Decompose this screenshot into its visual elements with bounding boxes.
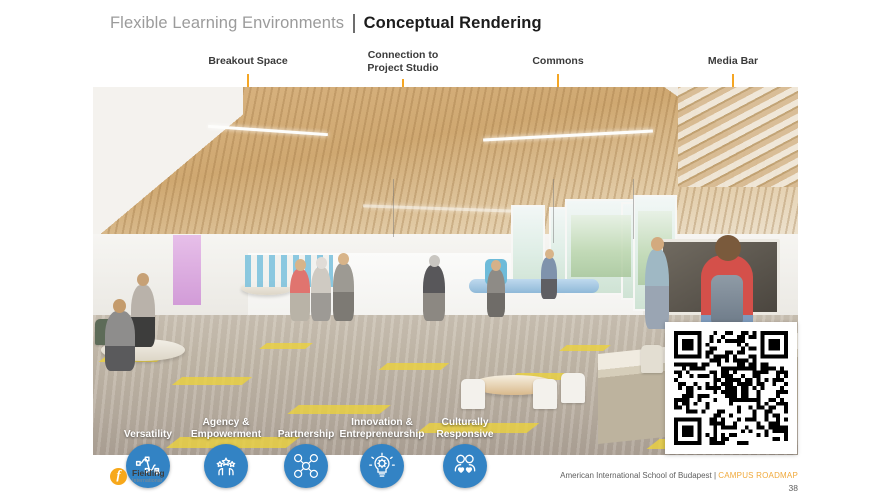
chair-commons-3	[561, 373, 585, 403]
floor-stripe-2	[172, 377, 252, 385]
lightbulb-gear-icon	[360, 444, 404, 488]
student-2-head	[113, 299, 126, 313]
footer-school-name: American International School of Budapes…	[560, 471, 718, 480]
callout-label-0: Breakout Space	[208, 55, 287, 68]
student-3-head	[295, 259, 306, 271]
student-9-head	[545, 249, 554, 259]
footer-credit: American International School of Budapes…	[560, 470, 798, 494]
page-title-secondary: Conceptual Rendering	[364, 14, 542, 33]
footer-project-name: CAMPUS ROADMAP	[718, 471, 798, 480]
student-8	[487, 269, 505, 317]
floor-stripe-3	[259, 343, 313, 349]
hands-stars-icon	[204, 444, 248, 488]
floor-stripe-5	[379, 363, 450, 370]
backpack	[711, 275, 743, 327]
pendant-cord-1	[393, 179, 394, 237]
accent-wall-purple	[173, 235, 201, 305]
chair-media-1	[641, 345, 663, 373]
callout-label-2: Commons	[532, 55, 583, 68]
ceiling-slat-fins	[678, 87, 798, 187]
student-2	[105, 311, 135, 371]
principle-3[interactable]: Innovation & Entrepreneurship	[334, 411, 430, 488]
page-title-primary: Flexible Learning Environments	[110, 14, 344, 33]
student-foreground-head	[715, 235, 741, 261]
student-5-head	[338, 253, 349, 265]
chair-commons-2	[533, 379, 557, 409]
student-7	[423, 265, 445, 321]
fielding-logo: f Fielding International	[110, 468, 165, 485]
people-network-icon	[284, 444, 328, 488]
pendant-cord-2	[553, 179, 554, 243]
fielding-logo-mark: f	[110, 468, 127, 485]
people-hearts-icon	[443, 444, 487, 488]
student-8-head	[491, 260, 501, 271]
principle-label-3: Innovation & Entrepreneurship	[334, 417, 430, 441]
student-4-head	[316, 257, 327, 269]
callout-label-3: Media Bar	[708, 55, 758, 68]
title-divider	[353, 14, 355, 33]
ceiling-left-soffit	[93, 87, 243, 256]
student-1-head	[137, 273, 149, 286]
principle-label-4: Culturally Responsive	[417, 417, 513, 441]
page-number: 38	[560, 482, 798, 494]
fielding-logo-subtitle: International	[132, 479, 165, 484]
pendant-cord-3	[633, 179, 634, 239]
page-title: Flexible Learning Environments Conceptua…	[110, 14, 542, 33]
student-4	[311, 267, 331, 321]
window-foliage	[571, 215, 631, 277]
student-9	[541, 257, 557, 299]
student-standing-teal-head	[651, 237, 664, 251]
principle-4[interactable]: Culturally Responsive	[417, 411, 513, 488]
student-7-head	[429, 255, 440, 267]
fielding-logo-name: Fielding	[132, 469, 165, 478]
callout-label-1: Connection to Project Studio	[367, 49, 438, 75]
slide: Flexible Learning Environments Conceptua…	[0, 0, 890, 500]
fielding-logo-letter: f	[110, 467, 127, 483]
student-standing-teal	[645, 249, 669, 329]
student-3	[290, 269, 310, 321]
fielding-logo-text: Fielding International	[132, 469, 165, 484]
qr-code[interactable]	[665, 322, 797, 454]
floor-stripe-8	[559, 345, 611, 351]
